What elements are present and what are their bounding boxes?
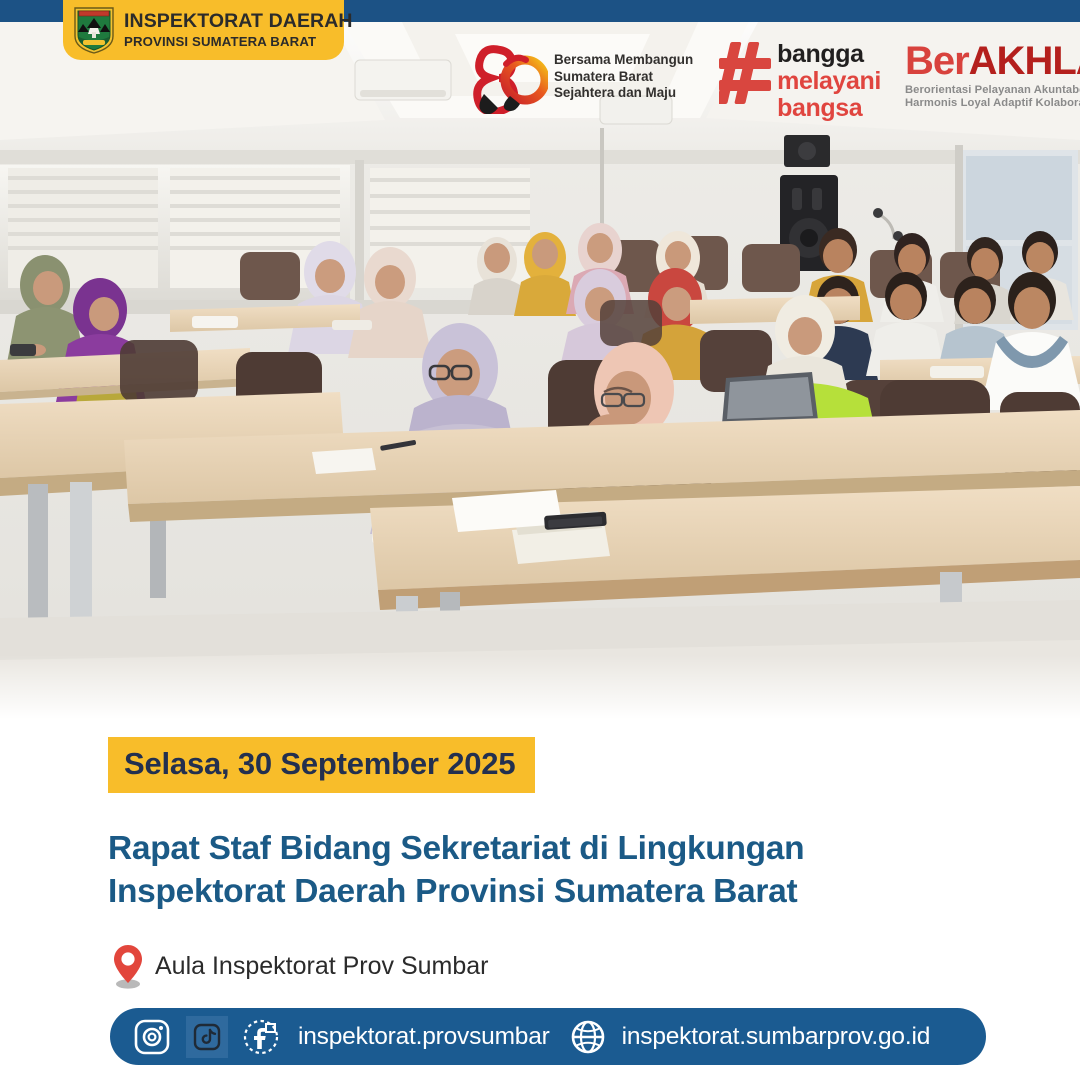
event-title-line2: Inspektorat Daerah Provinsi Sumatera Bar… [108,871,928,914]
bangga-line3: bangsa [777,96,881,121]
berakhlak-values: Berorientasi Pelayanan Akuntabel Kompete… [905,84,1080,110]
event-date-banner: Selasa, 30 September 2025 [108,737,535,793]
anniversary-tagline-line3: Sejahtera dan Maju [554,85,693,102]
bangga-line2: melayani [777,69,881,94]
berakhlak-prefix: Ber [905,39,969,83]
bangga-melayani-bangsa-logo: bangga melayani bangsa [719,40,881,121]
globe-icon[interactable] [568,1017,608,1057]
map-pin-icon [110,943,146,989]
event-date: Selasa, 30 September 2025 [124,746,515,781]
event-venue: Aula Inspektorat Prov Sumbar [110,943,489,989]
badge-text: INSPEKTORAT DAERAH PROVINSI SUMATERA BAR… [124,12,353,48]
anniversary-80-logo: Bersama Membangun Sumatera Barat Sejahte… [470,40,693,114]
berakhlak-suffix: AKHLAK [969,39,1080,83]
badge-title: INSPEKTORAT DAERAH [124,12,353,32]
facebook-icon[interactable] [240,1016,282,1058]
social-footer-bar: inspektorat.provsumbar inspektorat.sumba… [110,1008,986,1065]
website-url[interactable]: inspektorat.sumbarprov.go.id [622,1023,931,1051]
tiktok-icon[interactable] [186,1016,228,1058]
header-logo-row: Bersama Membangun Sumatera Barat Sejahte… [470,40,1080,140]
event-title-line1: Rapat Staf Bidang Sekretariat di Lingkun… [108,828,928,871]
berakhlak-values-line2: Harmonis Loyal Adaptif Kolaboratif [905,97,1080,110]
anniversary-tagline-line2: Sumatera Barat [554,69,693,86]
west-sumatra-coat-of-arms-icon [73,6,115,54]
bangga-text: bangga melayani bangsa [777,40,881,121]
instagram-icon[interactable] [132,1017,172,1057]
inspectorate-logo-badge: INSPEKTORAT DAERAH PROVINSI SUMATERA BAR… [63,0,344,60]
hashtag-icon [719,40,773,106]
event-venue-label: Aula Inspektorat Prov Sumbar [155,952,489,981]
badge-subtitle: PROVINSI SUMATERA BARAT [124,35,353,48]
anniversary-tagline: Bersama Membangun Sumatera Barat Sejahte… [554,52,693,103]
social-handle[interactable]: inspektorat.provsumbar [298,1023,550,1051]
anniversary-80-logo-icon [470,40,548,114]
content-section: Selasa, 30 September 2025 Rapat Staf Bid… [0,725,1080,1080]
event-title: Rapat Staf Bidang Sekretariat di Lingkun… [108,828,928,914]
bangga-line1: bangga [777,42,881,67]
berakhlak-logo: BerAKHLAK ❯ Berorientasi Pelayanan Akunt… [905,40,1080,110]
anniversary-tagline-line1: Bersama Membangun [554,52,693,69]
berakhlak-values-line1: Berorientasi Pelayanan Akuntabel Kompete… [905,84,1080,97]
berakhlak-wordmark: BerAKHLAK [905,42,1080,80]
poster-canvas: INSPEKTORAT DAERAH PROVINSI SUMATERA BAR… [0,0,1080,1080]
